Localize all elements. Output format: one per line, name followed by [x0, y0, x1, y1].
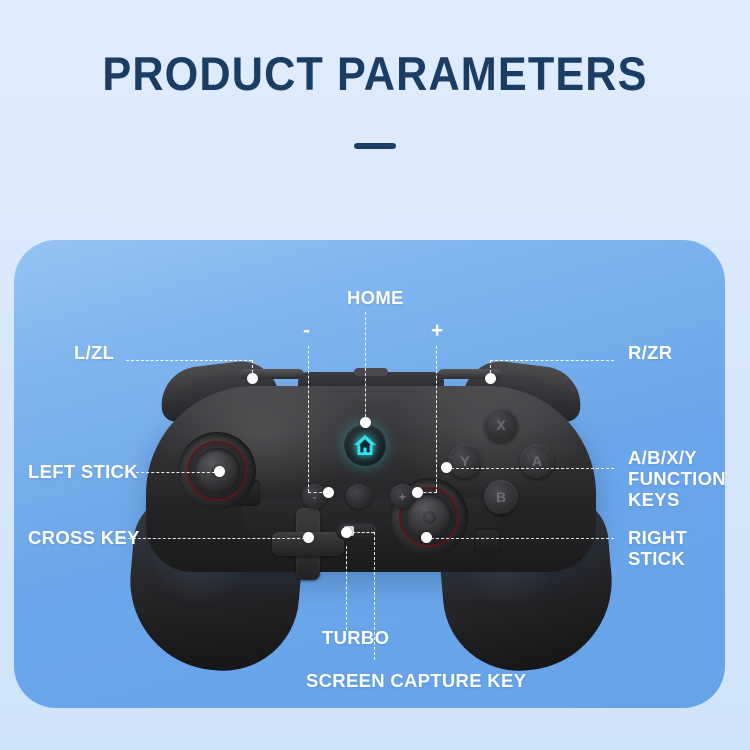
minus-button[interactable]: - — [302, 484, 327, 509]
callout-label-abxy: A/B/X/Y FUNCTION KEYS — [628, 447, 726, 510]
leader-dot-minus — [323, 487, 334, 498]
leader-line-left-stick — [136, 472, 220, 473]
callout-label-right-stick: RIGHT STICK — [628, 527, 687, 569]
leader-dot-left-stick — [214, 466, 225, 477]
leader-line-minus-vertical — [308, 346, 309, 492]
callout-label-cross-key: CROSS KEY — [28, 527, 140, 548]
leader-line-l-zl-horizontal — [126, 360, 252, 361]
dpad-cross-key[interactable] — [272, 508, 344, 580]
callout-label-left-stick: LEFT STICK — [28, 461, 138, 482]
plus-button[interactable]: + — [390, 484, 415, 509]
callout-label-screen-capture: SCREEN CAPTURE KEY — [306, 670, 526, 691]
title-divider — [354, 143, 396, 149]
home-house-icon — [353, 434, 377, 456]
leader-dot-capture — [341, 527, 352, 538]
screenshot-button[interactable] — [346, 484, 371, 509]
leader-line-plus-vertical — [436, 346, 437, 492]
leader-dot-right-stick — [421, 532, 432, 543]
leader-dot-home — [360, 417, 371, 428]
callout-label-plus: + — [431, 320, 443, 341]
abxy-button-cluster: X Y A B — [448, 408, 554, 514]
leader-line-cross-key — [118, 538, 310, 539]
leader-line-right-stick — [426, 538, 614, 539]
leader-dot-cross-key — [303, 532, 314, 543]
leader-line-r-zr-horizontal — [490, 360, 614, 361]
leader-dot-l-zl — [247, 373, 258, 384]
callout-label-minus: - — [303, 320, 310, 341]
leader-line-turbo — [346, 546, 347, 630]
callout-label-l-zl: L/ZL — [74, 342, 114, 363]
button-b[interactable]: B — [484, 480, 518, 514]
leader-dot-r-zr — [485, 373, 496, 384]
leader-dot-plus — [412, 487, 423, 498]
home-button[interactable] — [344, 424, 386, 466]
button-y[interactable]: Y — [448, 444, 482, 478]
callout-label-turbo: TURBO — [322, 627, 389, 648]
leader-line-home — [365, 312, 366, 422]
callout-label-home: HOME — [347, 287, 404, 308]
button-a[interactable]: A — [520, 444, 554, 478]
button-x[interactable]: X — [484, 408, 518, 442]
page-title: PRODUCT PARAMETERS — [30, 48, 720, 100]
leader-line-abxy — [446, 468, 614, 469]
callout-label-r-zr: R/ZR — [628, 342, 672, 363]
right-texture-plate — [474, 528, 500, 554]
infographic-page: PRODUCT PARAMETERS — [0, 0, 750, 750]
controller-top-nub — [354, 368, 388, 376]
leader-dot-abxy — [441, 462, 452, 473]
